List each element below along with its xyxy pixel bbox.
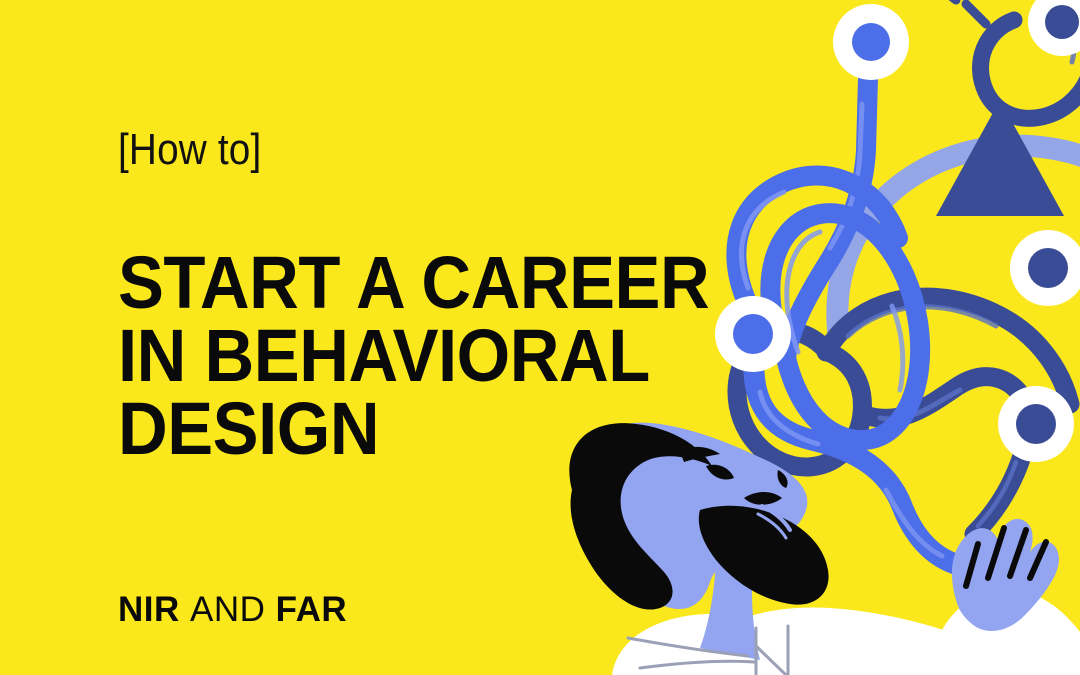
- headline-line-1: START A CAREER: [118, 246, 713, 319]
- brand-logo[interactable]: NIR AND FAR: [118, 592, 347, 627]
- brand-word-and: AND: [190, 590, 265, 629]
- brand-word-far: FAR: [276, 590, 348, 629]
- headline-line-3: DESIGN: [118, 392, 713, 465]
- page-title: START A CAREER IN BEHAVIORAL DESIGN: [118, 246, 758, 466]
- headline-line-2: IN BEHAVIORAL: [118, 319, 713, 392]
- node-top: [833, 4, 909, 80]
- node-right-lower: [998, 386, 1074, 462]
- eyebrow-label: [How to]: [118, 128, 261, 172]
- brand-word-nir: NIR: [118, 590, 180, 629]
- poster-canvas: [How to] START A CAREER IN BEHAVIORAL DE…: [0, 0, 1080, 675]
